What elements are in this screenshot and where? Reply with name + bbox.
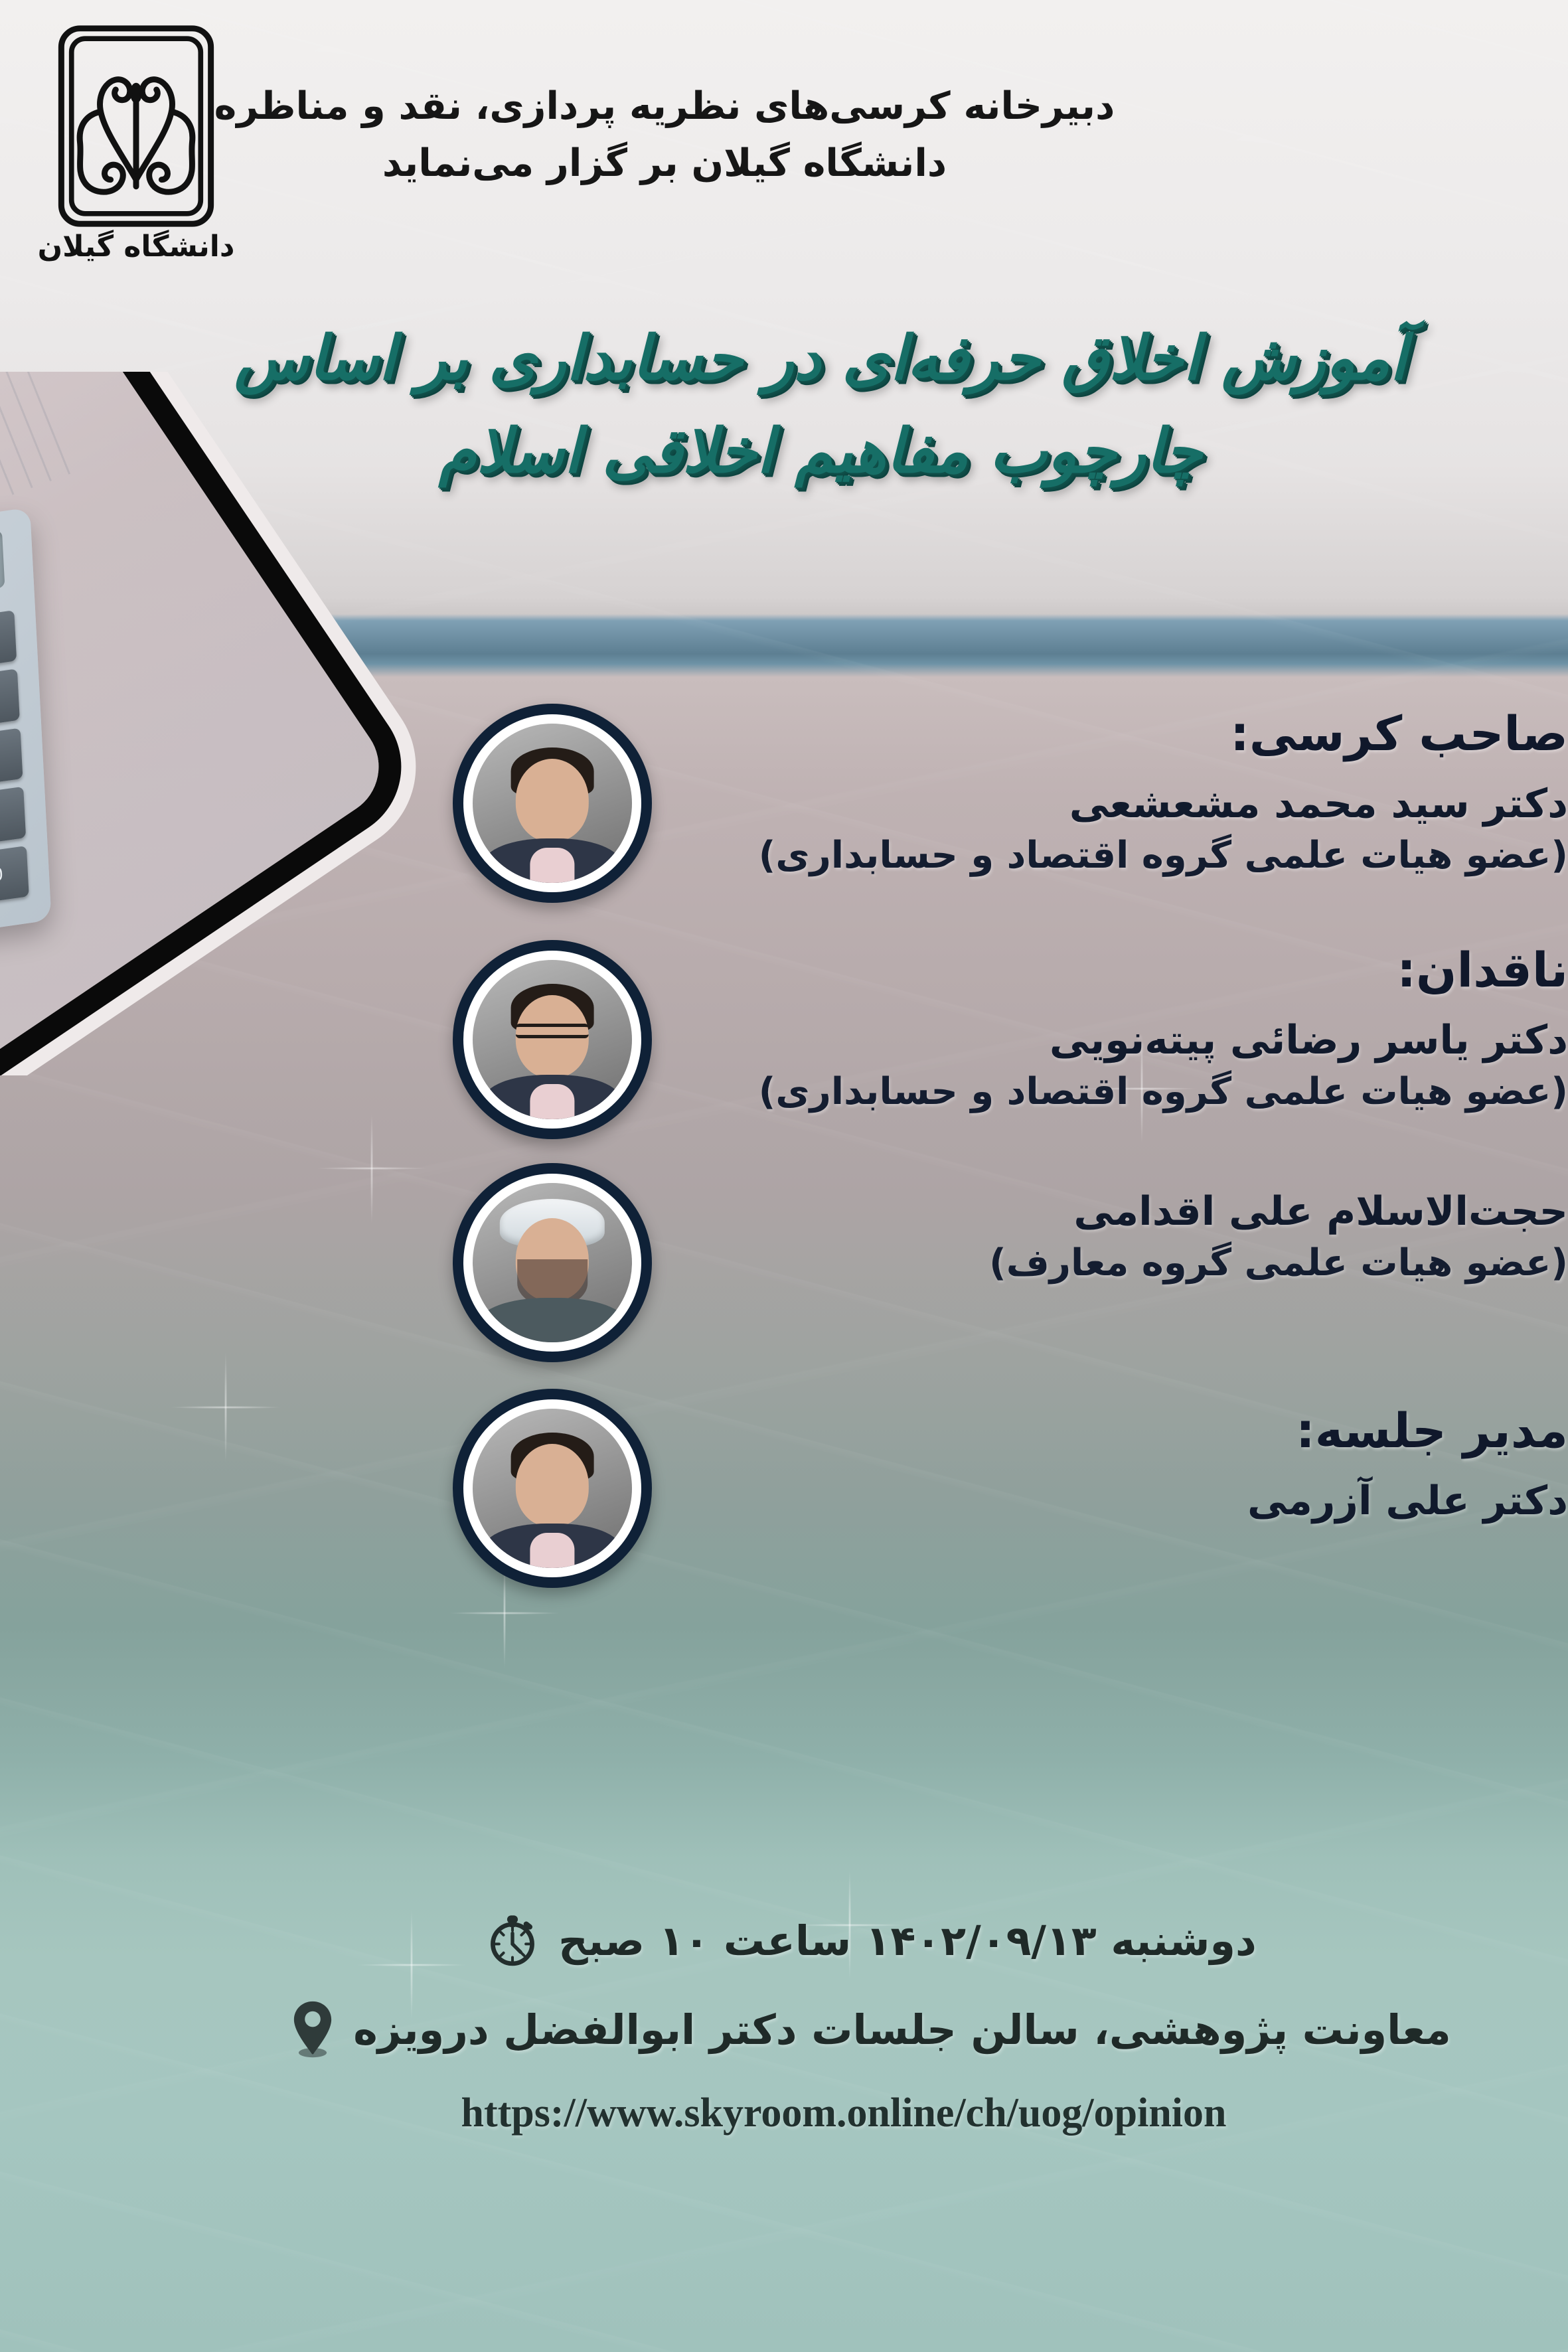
participant-session-manager: مدیر جلسه: دکتر علی آزرمی	[0, 1389, 1568, 1588]
event-url: https://www.skyroom.online/ch/uog/opinio…	[0, 2090, 1568, 2137]
avatar	[453, 1163, 652, 1362]
avatar	[453, 1389, 652, 1588]
person-name: دکتر علی آزرمی	[692, 1475, 1568, 1528]
person-name: دکتر یاسر رضائی پیته‌نویی	[692, 1014, 1568, 1067]
role-label: ناقدان:	[692, 940, 1568, 1000]
page-title-line-2: چارچوب مفاهیم اخلاقی اسلام	[146, 405, 1495, 498]
datetime-row: دوشنبه ۱۴۰۲/۰۹/۱۳ ساعت ۱۰ صبح	[0, 1912, 1568, 1969]
location-pin-icon	[289, 1999, 336, 2059]
university-of-guilan-emblem-icon	[50, 20, 222, 232]
stopwatch-icon	[484, 1912, 541, 1969]
person-name: دکتر سید محمد مشعشعی	[692, 778, 1568, 830]
person-affiliation: (عضو هیات علمی گروه اقتصاد و حسابداری)	[692, 830, 1568, 881]
avatar	[453, 940, 652, 1139]
page-title: آموزش اخلاق حرفه‌ای در حسابداری بر اساس …	[0, 312, 1568, 498]
location-row: معاونت پژوهشی، سالن جلسات دکتر ابوالفضل …	[0, 1999, 1568, 2059]
avatar	[453, 704, 652, 903]
person-affiliation: (عضو هیات علمی گروه اقتصاد و حسابداری)	[692, 1067, 1568, 1117]
page-title-line-1: آموزش اخلاق حرفه‌ای در حسابداری بر اساس	[146, 312, 1495, 405]
participant-critic-2: حجت‌الاسلام علی اقدامی (عضو هیات علمی گر…	[0, 1163, 1568, 1362]
event-location: معاونت پژوهشی، سالن جلسات دکتر ابوالفضل …	[353, 2005, 1451, 2054]
person-name: حجت‌الاسلام علی اقدامی	[692, 1186, 1568, 1238]
event-datetime: دوشنبه ۱۴۰۲/۰۹/۱۳ ساعت ۱۰ صبح	[558, 1917, 1257, 1965]
event-poster: MRMCM-M+% 789÷× 456-+ 123= 000.CAC	[0, 0, 1568, 2352]
person-affiliation: (عضو هیات علمی گروه معارف)	[692, 1238, 1568, 1289]
university-logo-caption: دانشگاه گیلان	[27, 230, 246, 264]
participant-chair-holder: صاحب کرسی: دکتر سید محمد مشعشعی (عضو هیا…	[0, 704, 1568, 903]
role-label: صاحب کرسی:	[692, 704, 1568, 763]
role-label: مدیر جلسه:	[692, 1401, 1568, 1460]
event-details-footer: دوشنبه ۱۴۰۲/۰۹/۱۳ ساعت ۱۰ صبح معاونت پژو…	[0, 1912, 1568, 2137]
university-logo: دانشگاه گیلان	[27, 20, 246, 264]
participants-list: صاحب کرسی: دکتر سید محمد مشعشعی (عضو هیا…	[0, 704, 1568, 1588]
participant-critic-1: ناقدان: دکتر یاسر رضائی پیته‌نویی (عضو ه…	[0, 940, 1568, 1139]
